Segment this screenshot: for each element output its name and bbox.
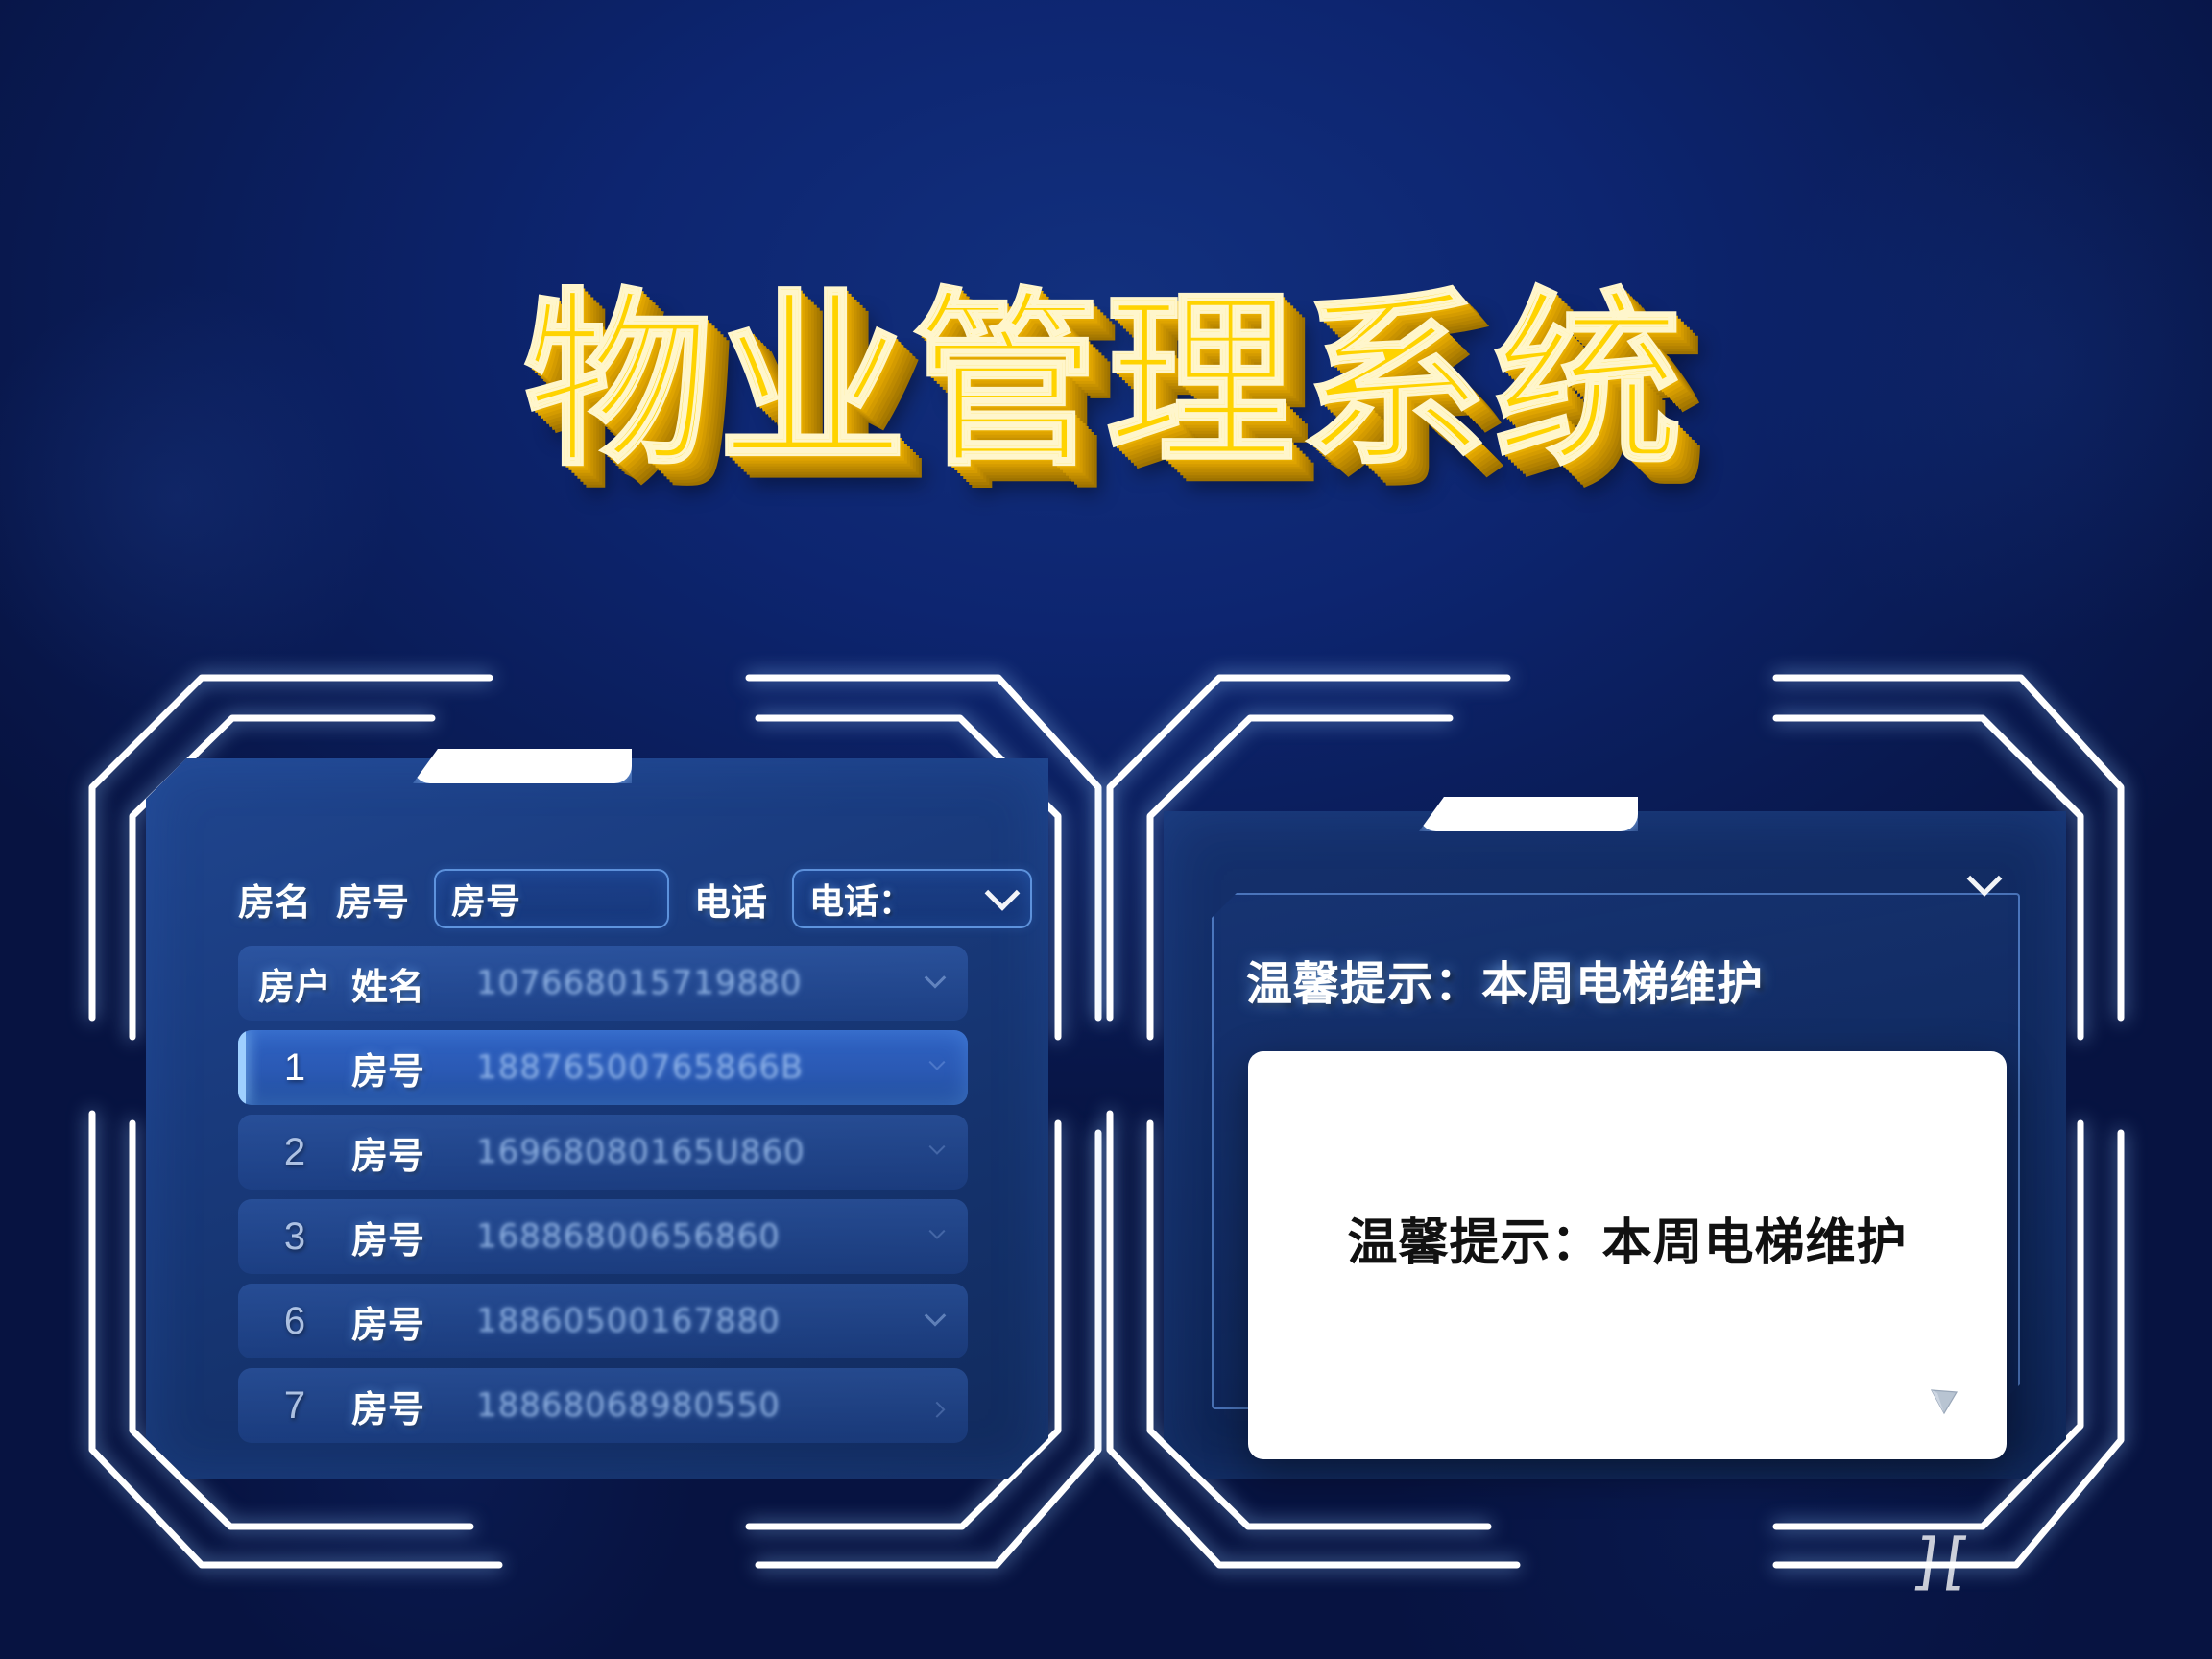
row-expand-cell[interactable] bbox=[899, 1146, 943, 1158]
header-expand-cell[interactable] bbox=[899, 975, 943, 991]
notice-card[interactable]: 温馨提示：本周电梯维护 bbox=[1248, 1051, 2007, 1459]
list-header-row: 房户 姓名 107668015719880 bbox=[238, 946, 968, 1021]
notice-title: 温馨提示：本周电梯维护 bbox=[1246, 946, 1764, 1013]
row-index: 1 bbox=[238, 1046, 351, 1090]
row-index: 3 bbox=[238, 1215, 351, 1259]
row-phone: 18876500765866B bbox=[476, 1048, 899, 1087]
table-row[interactable]: 7 房号 18868068980550 bbox=[238, 1368, 968, 1443]
household-list: 房户 姓名 107668015719880 1 房号 1887650076586… bbox=[238, 946, 968, 1443]
row-phone: 18860500167880 bbox=[476, 1302, 899, 1340]
phone-select-value: 电话： bbox=[809, 874, 913, 924]
chevron-down-icon bbox=[929, 1223, 946, 1239]
gem-icon bbox=[1928, 1386, 1960, 1415]
row-phone: 18868068980550 bbox=[476, 1386, 899, 1425]
phone-label: 电话 bbox=[694, 873, 767, 926]
chevron-down-icon bbox=[925, 1305, 947, 1327]
page-title: 物业管理系统 bbox=[524, 288, 1688, 476]
row-name: 房号 bbox=[351, 1042, 476, 1094]
row-phone: 16968080165U860 bbox=[476, 1133, 899, 1171]
header-phone-value: 107668015719880 bbox=[476, 964, 899, 1002]
table-row[interactable]: 1 房号 18876500765866B bbox=[238, 1030, 968, 1105]
header-name-label: 姓名 bbox=[351, 957, 476, 1010]
decor-bracket-glyph: ][ bbox=[1904, 1527, 1968, 1598]
row-index: 6 bbox=[238, 1300, 351, 1343]
row-name: 房号 bbox=[351, 1295, 476, 1348]
notice-card-text: 温馨提示：本周电梯维护 bbox=[1347, 1202, 1907, 1274]
chevron-down-icon bbox=[985, 876, 1021, 911]
row-expand-cell[interactable] bbox=[899, 1231, 943, 1242]
header-household-label: 房户 bbox=[238, 957, 351, 1010]
row-name: 房号 bbox=[351, 1211, 476, 1263]
chevron-down-icon bbox=[925, 967, 947, 989]
row-name: 房号 bbox=[351, 1126, 476, 1179]
phone-select[interactable]: 电话： bbox=[792, 869, 1032, 928]
row-index: 7 bbox=[238, 1384, 351, 1428]
row-phone: 16886800656860 bbox=[476, 1217, 899, 1256]
search-form-row: 房名 房号 房号 电话 电话： bbox=[238, 869, 1032, 928]
left-panel-tab-notch bbox=[413, 749, 632, 783]
room-no-label: 房号 bbox=[336, 873, 409, 926]
row-expand-cell[interactable] bbox=[899, 1062, 943, 1073]
room-name-label: 房名 bbox=[238, 873, 311, 926]
table-row[interactable]: 6 房号 18860500167880 bbox=[238, 1284, 968, 1358]
right-panel-collapse-button[interactable] bbox=[1972, 872, 1997, 902]
row-expand-cell[interactable] bbox=[899, 1400, 943, 1411]
row-name: 房号 bbox=[351, 1380, 476, 1432]
chevron-down-icon bbox=[929, 1139, 946, 1155]
app-stage: 物业管理系统 bbox=[0, 0, 2212, 1659]
chevron-right-icon bbox=[929, 1402, 946, 1418]
room-no-input-value: 房号 bbox=[451, 874, 520, 924]
row-expand-cell[interactable] bbox=[899, 1313, 943, 1329]
room-no-input[interactable]: 房号 bbox=[434, 869, 669, 928]
table-row[interactable]: 2 房号 16968080165U860 bbox=[238, 1115, 968, 1190]
right-panel-tab-notch bbox=[1419, 797, 1638, 831]
table-row[interactable]: 3 房号 16886800656860 bbox=[238, 1199, 968, 1274]
row-index: 2 bbox=[238, 1131, 351, 1174]
page-title-container: 物业管理系统 bbox=[0, 288, 2212, 476]
chevron-down-icon bbox=[929, 1054, 946, 1070]
